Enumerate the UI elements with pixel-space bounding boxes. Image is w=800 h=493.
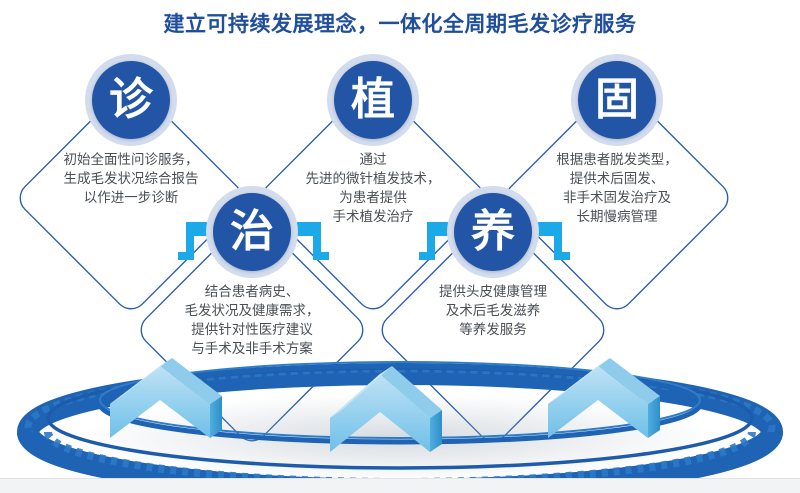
node-glyph-gu: 固 xyxy=(595,78,639,122)
description-yang: 提供头皮健康管理 及术后毛发滋养 等养发服务 xyxy=(383,282,603,339)
node-circle-zhi-plant[interactable]: 植 xyxy=(327,54,419,146)
node-glyph-zhi-plant: 植 xyxy=(351,78,395,122)
node-circle-inner-zhen: 诊 xyxy=(92,61,170,139)
description-gu-line-1: 根据患者脱发类型， xyxy=(507,150,727,169)
description-yang-line-3: 等养发服务 xyxy=(383,320,603,339)
infographic-canvas: 建立可持续发展理念，一体化全周期毛发诊疗服务 xyxy=(0,0,800,493)
description-zhi-treat-line-2: 毛发状况及健康需求， xyxy=(142,301,362,320)
description-zhi-treat-line-1: 结合患者病史、 xyxy=(142,282,362,301)
node-glyph-zhi-treat: 治 xyxy=(230,210,274,254)
node-glyph-yang: 养 xyxy=(471,210,515,254)
node-circle-inner-zhi-treat: 治 xyxy=(213,193,291,271)
node-circle-zhen[interactable]: 诊 xyxy=(85,54,177,146)
description-zhi-plant-line-2: 先进的微针植发技术， xyxy=(263,169,483,188)
description-zhen: 初始全面性问诊服务， 生成毛发状况综合报告 以作进一步诊断 xyxy=(11,150,251,207)
description-gu-line-2: 提供术后固发、 xyxy=(507,169,727,188)
node-circle-inner-zhi-plant: 植 xyxy=(334,61,412,139)
description-yang-line-1: 提供头皮健康管理 xyxy=(383,282,603,301)
description-yang-line-2: 及术后毛发滋养 xyxy=(383,301,603,320)
description-gu: 根据患者脱发类型， 提供术后固发、 非手术固发治疗及 长期慢病管理 xyxy=(507,150,727,226)
description-gu-line-3: 非手术固发治疗及 xyxy=(507,188,727,207)
node-circle-yang[interactable]: 养 xyxy=(447,186,539,278)
node-circle-zhi-treat[interactable]: 治 xyxy=(206,186,298,278)
description-zhen-line-2: 生成毛发状况综合报告 xyxy=(11,169,251,188)
description-zhi-plant-line-1: 通过 xyxy=(263,150,483,169)
description-zhen-line-1: 初始全面性问诊服务， xyxy=(11,150,251,169)
node-circle-inner-gu: 固 xyxy=(578,61,656,139)
node-glyph-zhen: 诊 xyxy=(109,78,153,122)
description-zhi-treat-line-3: 提供针对性医疗建议 xyxy=(142,320,362,339)
node-circle-inner-yang: 养 xyxy=(454,193,532,271)
description-zhi-plant-line-3: 为患者提供 xyxy=(263,188,483,207)
footer-strip xyxy=(0,478,800,493)
node-circle-gu[interactable]: 固 xyxy=(571,54,663,146)
description-zhi-treat-line-4: 与手术及非手术方案 xyxy=(142,339,362,358)
description-zhi-treat: 结合患者病史、 毛发状况及健康需求， 提供针对性医疗建议 与手术及非手术方案 xyxy=(142,282,362,358)
